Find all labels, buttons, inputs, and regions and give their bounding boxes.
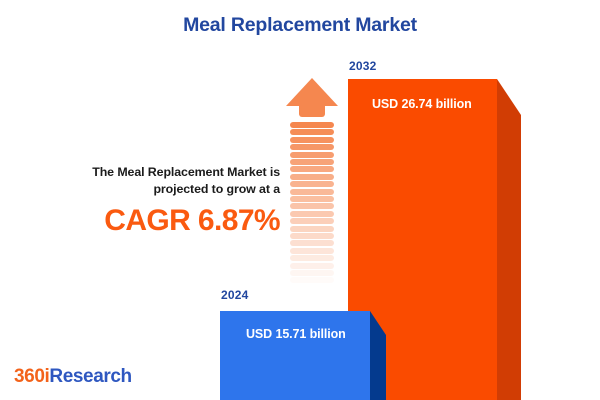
year-label-2032: 2032 [349, 59, 377, 73]
arrow-head [286, 78, 338, 108]
arrow-gradient-bar [290, 270, 334, 276]
arrow-gradient-bar [290, 248, 334, 254]
arrow-gradient-bar [290, 211, 334, 217]
arrow-gradient-bar [290, 189, 334, 195]
cagr-text-block: The Meal Replacement Market is projected… [18, 164, 280, 238]
arrow-gradient-bar [290, 203, 334, 209]
brand-logo[interactable]: 360iResearch [14, 366, 132, 388]
year-label-2024: 2024 [221, 288, 249, 302]
arrow-gradient-bars [290, 122, 334, 290]
infographic-canvas: Meal Replacement Market The Meal Replace… [0, 0, 600, 400]
arrow-gradient-bar [290, 152, 334, 158]
arrow-gradient-bar [290, 174, 334, 180]
arrow-gradient-bar [290, 166, 334, 172]
value-label-2024: USD 15.71 billion [246, 327, 346, 341]
arrow-gradient-bar [290, 218, 334, 224]
arrow-gradient-bar [290, 263, 334, 269]
arrow-stem [299, 105, 325, 117]
arrow-gradient-bar [290, 129, 334, 135]
cagr-value: CAGR 6.87% [18, 204, 280, 238]
bar-2032-side-face [497, 79, 521, 400]
cagr-lead-line-1: The Meal Replacement Market is [18, 164, 280, 181]
arrow-gradient-bar [290, 122, 334, 128]
bar-2024-front-face [220, 311, 370, 400]
growth-arrow-up-icon [286, 78, 338, 290]
arrow-gradient-bar [290, 277, 334, 283]
arrow-gradient-bar [290, 144, 334, 150]
arrow-gradient-bar [290, 196, 334, 202]
cagr-lead-line-2: projected to grow at a [18, 181, 280, 198]
bar-2024 [220, 311, 370, 400]
arrow-gradient-bar [290, 255, 334, 261]
arrow-gradient-bar [290, 137, 334, 143]
arrow-gradient-bar [290, 181, 334, 187]
arrow-gradient-bar [290, 240, 334, 246]
value-label-2032: USD 26.74 billion [372, 97, 472, 111]
brand-logo-360i: 360i [14, 366, 49, 387]
arrow-gradient-bar [290, 159, 334, 165]
arrow-gradient-bar [290, 226, 334, 232]
brand-logo-research: Research [49, 366, 131, 387]
page-title: Meal Replacement Market [0, 14, 600, 37]
arrow-gradient-bar [290, 233, 334, 239]
